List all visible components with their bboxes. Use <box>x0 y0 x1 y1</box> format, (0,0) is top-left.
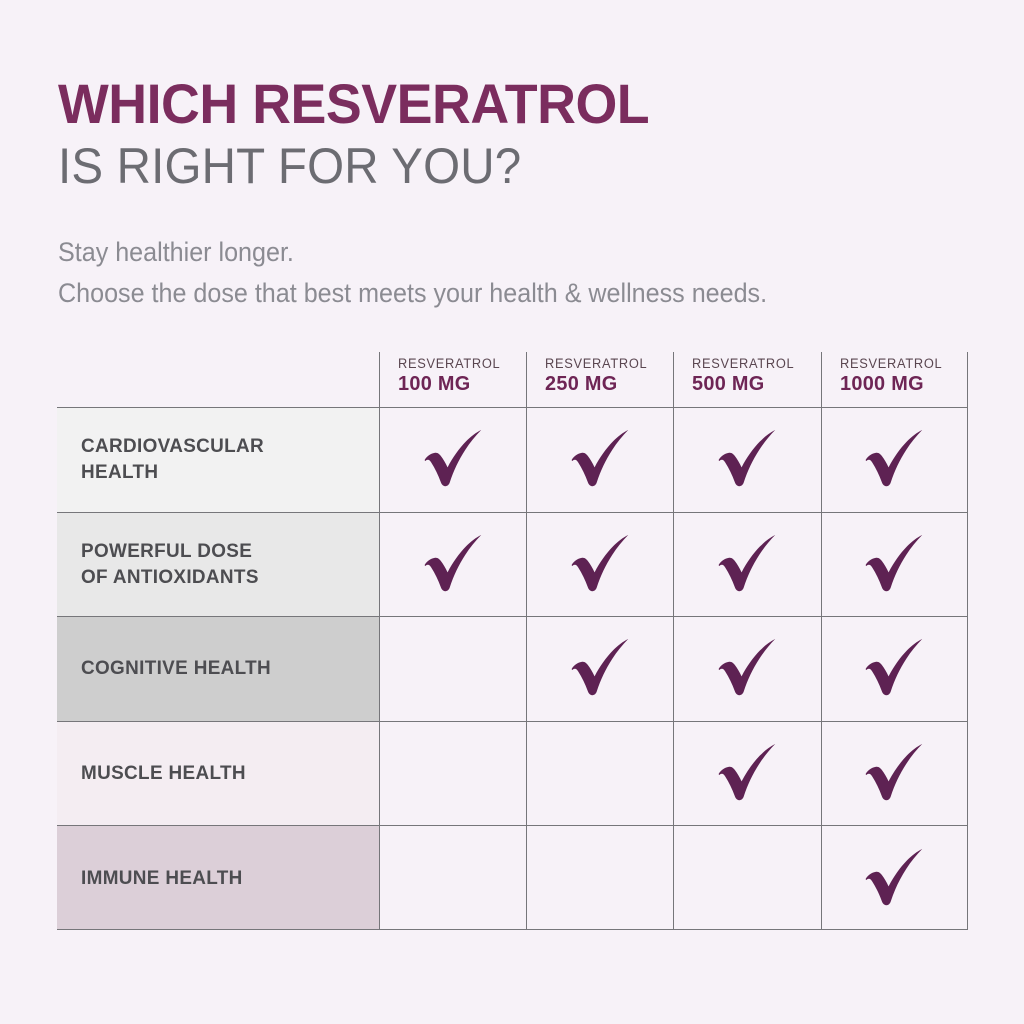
comparison-table: CARDIOVASCULAR HEALTHPOWERFUL DOSE OF AN… <box>57 344 968 930</box>
page-title-line1: WHICH RESVERATROL <box>58 74 941 134</box>
header-block: WHICH RESVERATROL IS RIGHT FOR YOU? Stay… <box>58 74 978 314</box>
table-vertical-divider <box>967 352 968 930</box>
table-cell <box>673 512 820 617</box>
checkmark-icon <box>567 638 633 698</box>
table-cell <box>379 721 526 826</box>
table-cell <box>673 825 820 930</box>
table-row-label: POWERFUL DOSE OF ANTIOXIDANTS <box>57 512 379 617</box>
table-row-label: COGNITIVE HEALTH <box>57 616 379 721</box>
table-cell <box>673 616 820 721</box>
table-row-label-text: POWERFUL DOSE OF ANTIOXIDANTS <box>81 538 259 590</box>
table-cell <box>379 407 526 512</box>
table-cell <box>821 512 968 617</box>
table-row-label-text: COGNITIVE HEALTH <box>81 655 271 681</box>
checkmark-icon <box>861 848 927 908</box>
table-row-label-text: CARDIOVASCULAR HEALTH <box>81 433 264 485</box>
column-header-brand: RESVERATROL <box>692 355 814 372</box>
table-cell <box>821 721 968 826</box>
checkmark-icon <box>567 534 633 594</box>
table-row-label-text: MUSCLE HEALTH <box>81 760 246 786</box>
checkmark-icon <box>861 534 927 594</box>
table-horizontal-divider <box>57 929 968 930</box>
table-vertical-divider <box>379 352 380 930</box>
column-header-brand: RESVERATROL <box>398 355 520 372</box>
checkmark-icon <box>567 429 633 489</box>
table-row-label-text: IMMUNE HEALTH <box>81 865 243 891</box>
table-horizontal-divider <box>57 407 968 408</box>
column-header-dose: 500 MG <box>692 372 816 396</box>
tagline-line2: Choose the dose that best meets your hea… <box>58 273 914 314</box>
page-title-line2: IS RIGHT FOR YOU? <box>58 138 932 194</box>
infographic-page: WHICH RESVERATROL IS RIGHT FOR YOU? Stay… <box>0 0 1024 1024</box>
table-column-header: RESVERATROL250 MG <box>526 344 673 407</box>
column-header-dose: 100 MG <box>398 372 522 396</box>
checkmark-icon <box>861 743 927 803</box>
table-column-header: RESVERATROL1000 MG <box>821 344 968 407</box>
table-horizontal-divider <box>57 616 968 617</box>
table-row-label: IMMUNE HEALTH <box>57 825 379 930</box>
checkmark-icon <box>714 534 780 594</box>
table-cell <box>526 721 673 826</box>
table-cell <box>821 616 968 721</box>
column-header-brand: RESVERATROL <box>545 355 667 372</box>
table-horizontal-divider <box>57 721 968 722</box>
column-header-brand: RESVERATROL <box>840 355 962 372</box>
table-cell <box>821 825 968 930</box>
table-horizontal-divider <box>57 512 968 513</box>
table-grid: CARDIOVASCULAR HEALTHPOWERFUL DOSE OF AN… <box>57 344 968 930</box>
table-cell <box>821 407 968 512</box>
table-cell <box>379 512 526 617</box>
table-cell <box>526 616 673 721</box>
table-column-header: RESVERATROL500 MG <box>673 344 820 407</box>
table-column-header: RESVERATROL100 MG <box>379 344 526 407</box>
checkmark-icon <box>714 638 780 698</box>
table-cell <box>673 721 820 826</box>
column-header-dose: 250 MG <box>545 372 669 396</box>
column-header-dose: 1000 MG <box>840 372 964 396</box>
table-cell <box>526 825 673 930</box>
table-vertical-divider <box>526 352 527 930</box>
table-cell <box>526 407 673 512</box>
tagline-line1: Stay healthier longer. <box>58 232 914 273</box>
table-vertical-divider <box>821 352 822 930</box>
table-row-label: MUSCLE HEALTH <box>57 721 379 826</box>
table-row-label: CARDIOVASCULAR HEALTH <box>57 407 379 512</box>
checkmark-icon <box>861 429 927 489</box>
checkmark-icon <box>714 429 780 489</box>
table-cell <box>379 825 526 930</box>
table-horizontal-divider <box>57 825 968 826</box>
table-cell <box>526 512 673 617</box>
checkmark-icon <box>420 534 486 594</box>
checkmark-icon <box>714 743 780 803</box>
checkmark-icon <box>861 638 927 698</box>
table-vertical-divider <box>673 352 674 930</box>
table-cell <box>379 616 526 721</box>
table-cell <box>673 407 820 512</box>
checkmark-icon <box>420 429 486 489</box>
